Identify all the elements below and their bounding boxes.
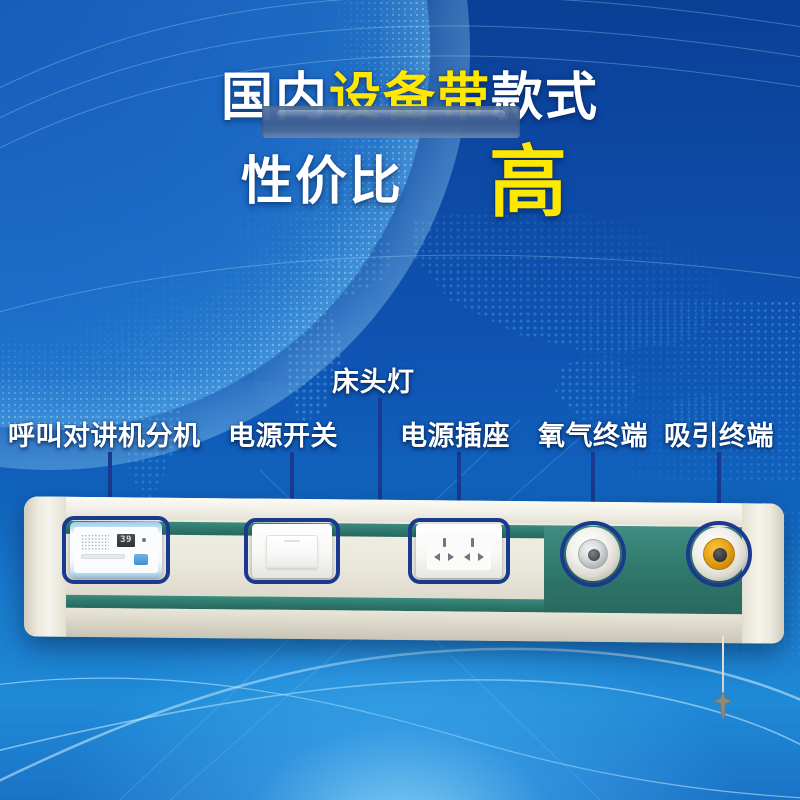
- panel-end-cap-left: [24, 496, 66, 636]
- intercom-card-slot: [81, 554, 125, 559]
- bed-lamp-diffuser[interactable]: [262, 106, 520, 138]
- socket-pin-icon-1: [443, 538, 446, 547]
- oxygen-coupler: [578, 539, 608, 569]
- callout-label-suction-terminal: 吸引终端: [664, 414, 774, 453]
- oxygen-terminal[interactable]: [566, 527, 620, 581]
- status-led-icon: [142, 538, 146, 542]
- socket-pin-icon-4: [448, 553, 454, 561]
- intercom-call-button[interactable]: [134, 554, 148, 565]
- oxygen-bore-icon: [588, 549, 600, 561]
- callout-label-nurse-call: 呼叫对讲机分机: [8, 414, 201, 453]
- intercom-display: 39: [117, 534, 135, 547]
- intercom-faceplate: 39: [74, 527, 158, 573]
- callout-label-power-switch: 电源开关: [228, 414, 338, 453]
- speaker-grille-icon: [81, 534, 109, 550]
- lamp-pull-handle[interactable]: [712, 692, 734, 718]
- socket-pin-icon-6: [478, 553, 484, 561]
- callout-label-oxygen-terminal: 氧气终端: [538, 414, 648, 453]
- panel-lower-rail: [24, 607, 784, 643]
- socket-pin-icon-2: [471, 538, 474, 547]
- socket-pin-icon-3: [434, 553, 440, 561]
- suction-bore-icon: [713, 548, 727, 562]
- suction-terminal[interactable]: [692, 527, 746, 581]
- callout-label-bed-lamp: 床头灯: [332, 360, 415, 399]
- power-switch[interactable]: [252, 524, 332, 578]
- nurse-call-intercom[interactable]: 39: [70, 522, 162, 578]
- socket-faceplate: [427, 532, 491, 570]
- power-socket[interactable]: [416, 524, 502, 578]
- socket-pin-icon-5: [464, 553, 470, 561]
- lamp-pull-cord[interactable]: [722, 636, 724, 698]
- callout-label-power-socket: 电源插座: [400, 414, 510, 453]
- promo-banner: 国内设备带款式 性价比高 呼叫对讲机分机 电源开关 床头灯 电源插座 氧气终端 …: [0, 0, 800, 800]
- rocker-paddle[interactable]: [266, 535, 318, 568]
- suction-coupler: [703, 538, 735, 570]
- panel-end-cap-right: [742, 503, 784, 643]
